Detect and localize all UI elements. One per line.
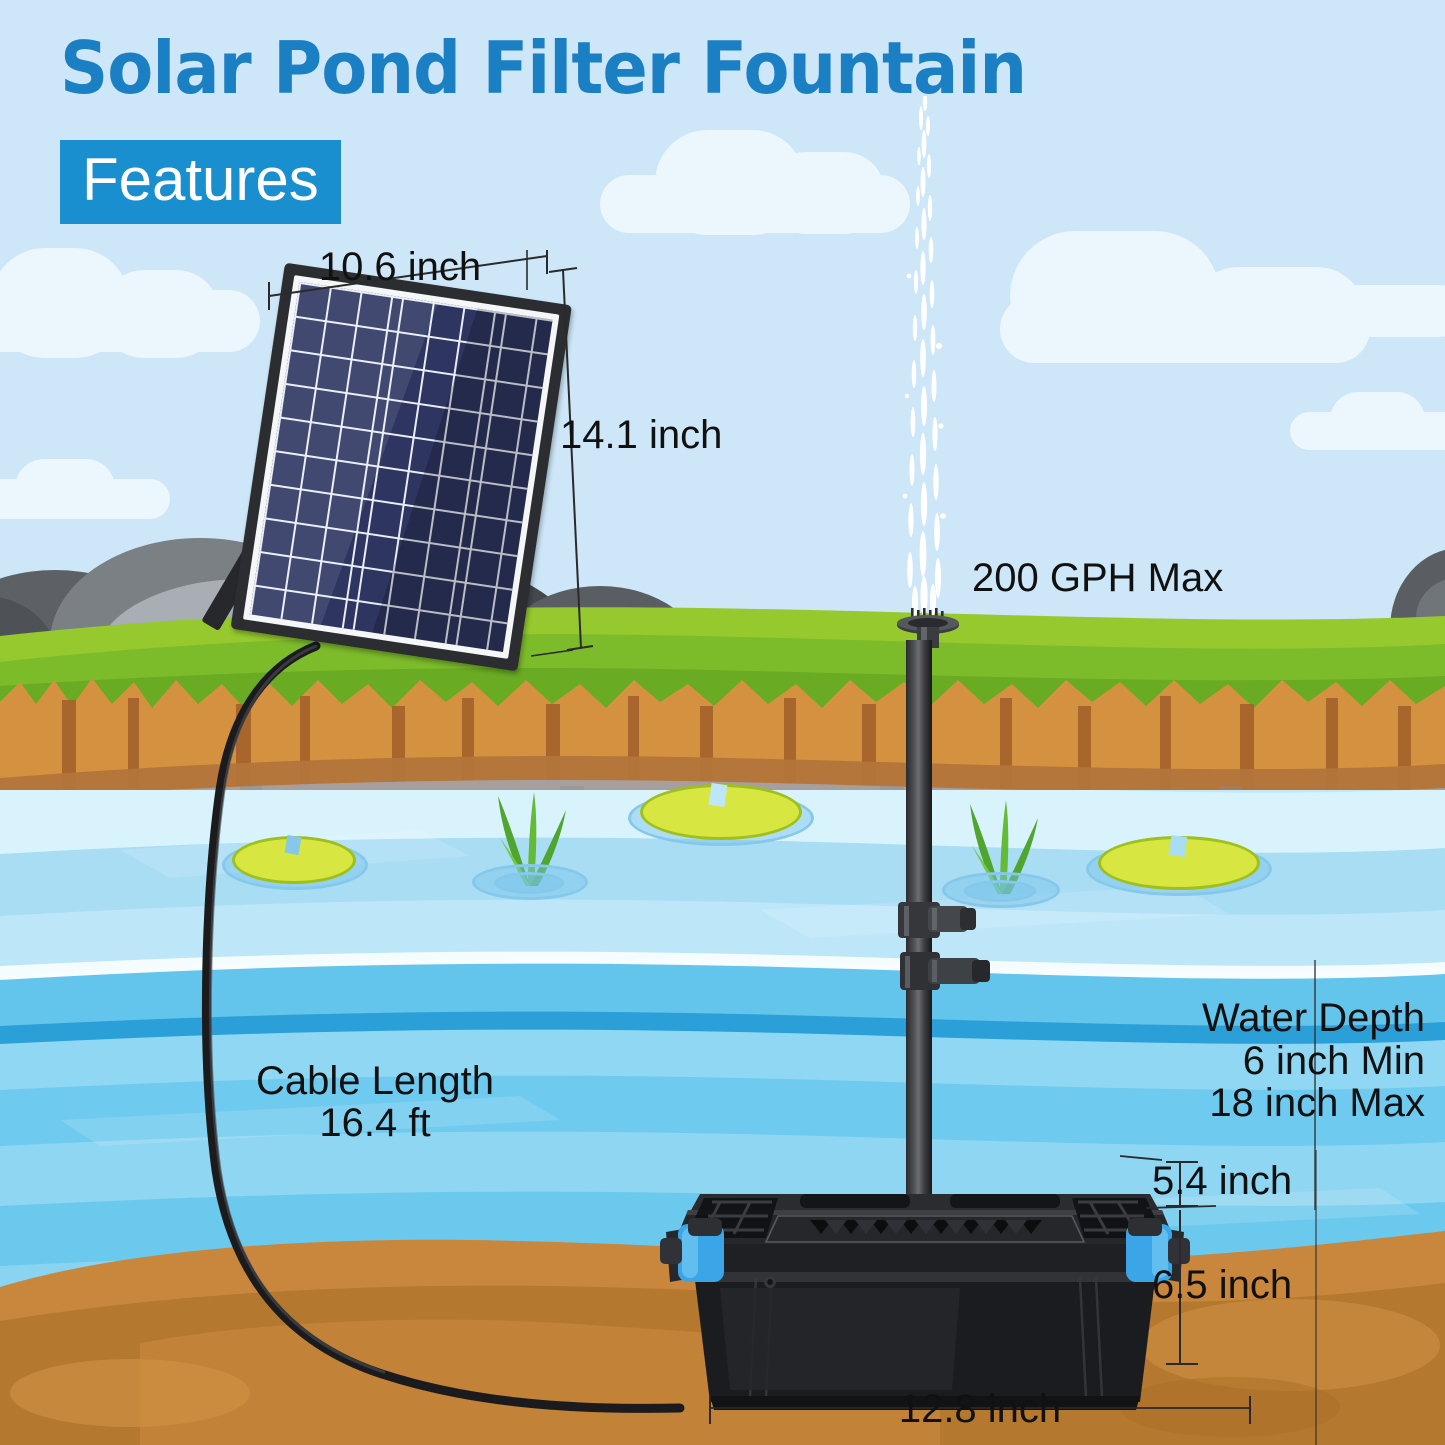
cloud-group-left [0, 230, 290, 360]
features-badge: Features [60, 140, 341, 224]
water-depth-title: Water Depth [1070, 995, 1425, 1041]
page-title: Solar Pond Filter Fountain [60, 32, 1026, 104]
reed-right [940, 796, 1060, 908]
cable-length-value: 16.4 ft [240, 1100, 510, 1146]
panel-height-label: 14.1 inch [560, 412, 722, 458]
infographic-canvas: Solar Pond Filter Fountain Features 10.6… [0, 0, 1445, 1445]
pipe-fitting-upper [898, 896, 984, 942]
flow-rate-label: 200 GPH Max [972, 555, 1223, 601]
panel-width-label: 10.6 inch [300, 244, 500, 290]
cloud-group-farright [1290, 390, 1445, 460]
water-depth-min: 6 inch Min [1070, 1038, 1425, 1084]
fountain-spray [895, 96, 955, 616]
box-lid-height-label: 5.4 inch [1152, 1158, 1292, 1204]
cloud-group-lowleft [0, 455, 180, 525]
latch-left [660, 1218, 724, 1282]
water-depth-max: 18 inch Max [1070, 1080, 1425, 1126]
power-cable [120, 630, 740, 1430]
box-body-height-label: 6.5 inch [1152, 1262, 1292, 1308]
cloud-group-topmid [600, 120, 930, 240]
filter-box-unit [660, 1158, 1190, 1418]
box-width-label: 12.8 inch [760, 1386, 1200, 1432]
panel-dimension-guides [255, 250, 595, 680]
lily-pad-right [1086, 836, 1266, 896]
cable-length-title: Cable Length [240, 1058, 510, 1104]
pipe-fitting-lower [900, 948, 996, 994]
cloud-group-right [1000, 225, 1445, 375]
